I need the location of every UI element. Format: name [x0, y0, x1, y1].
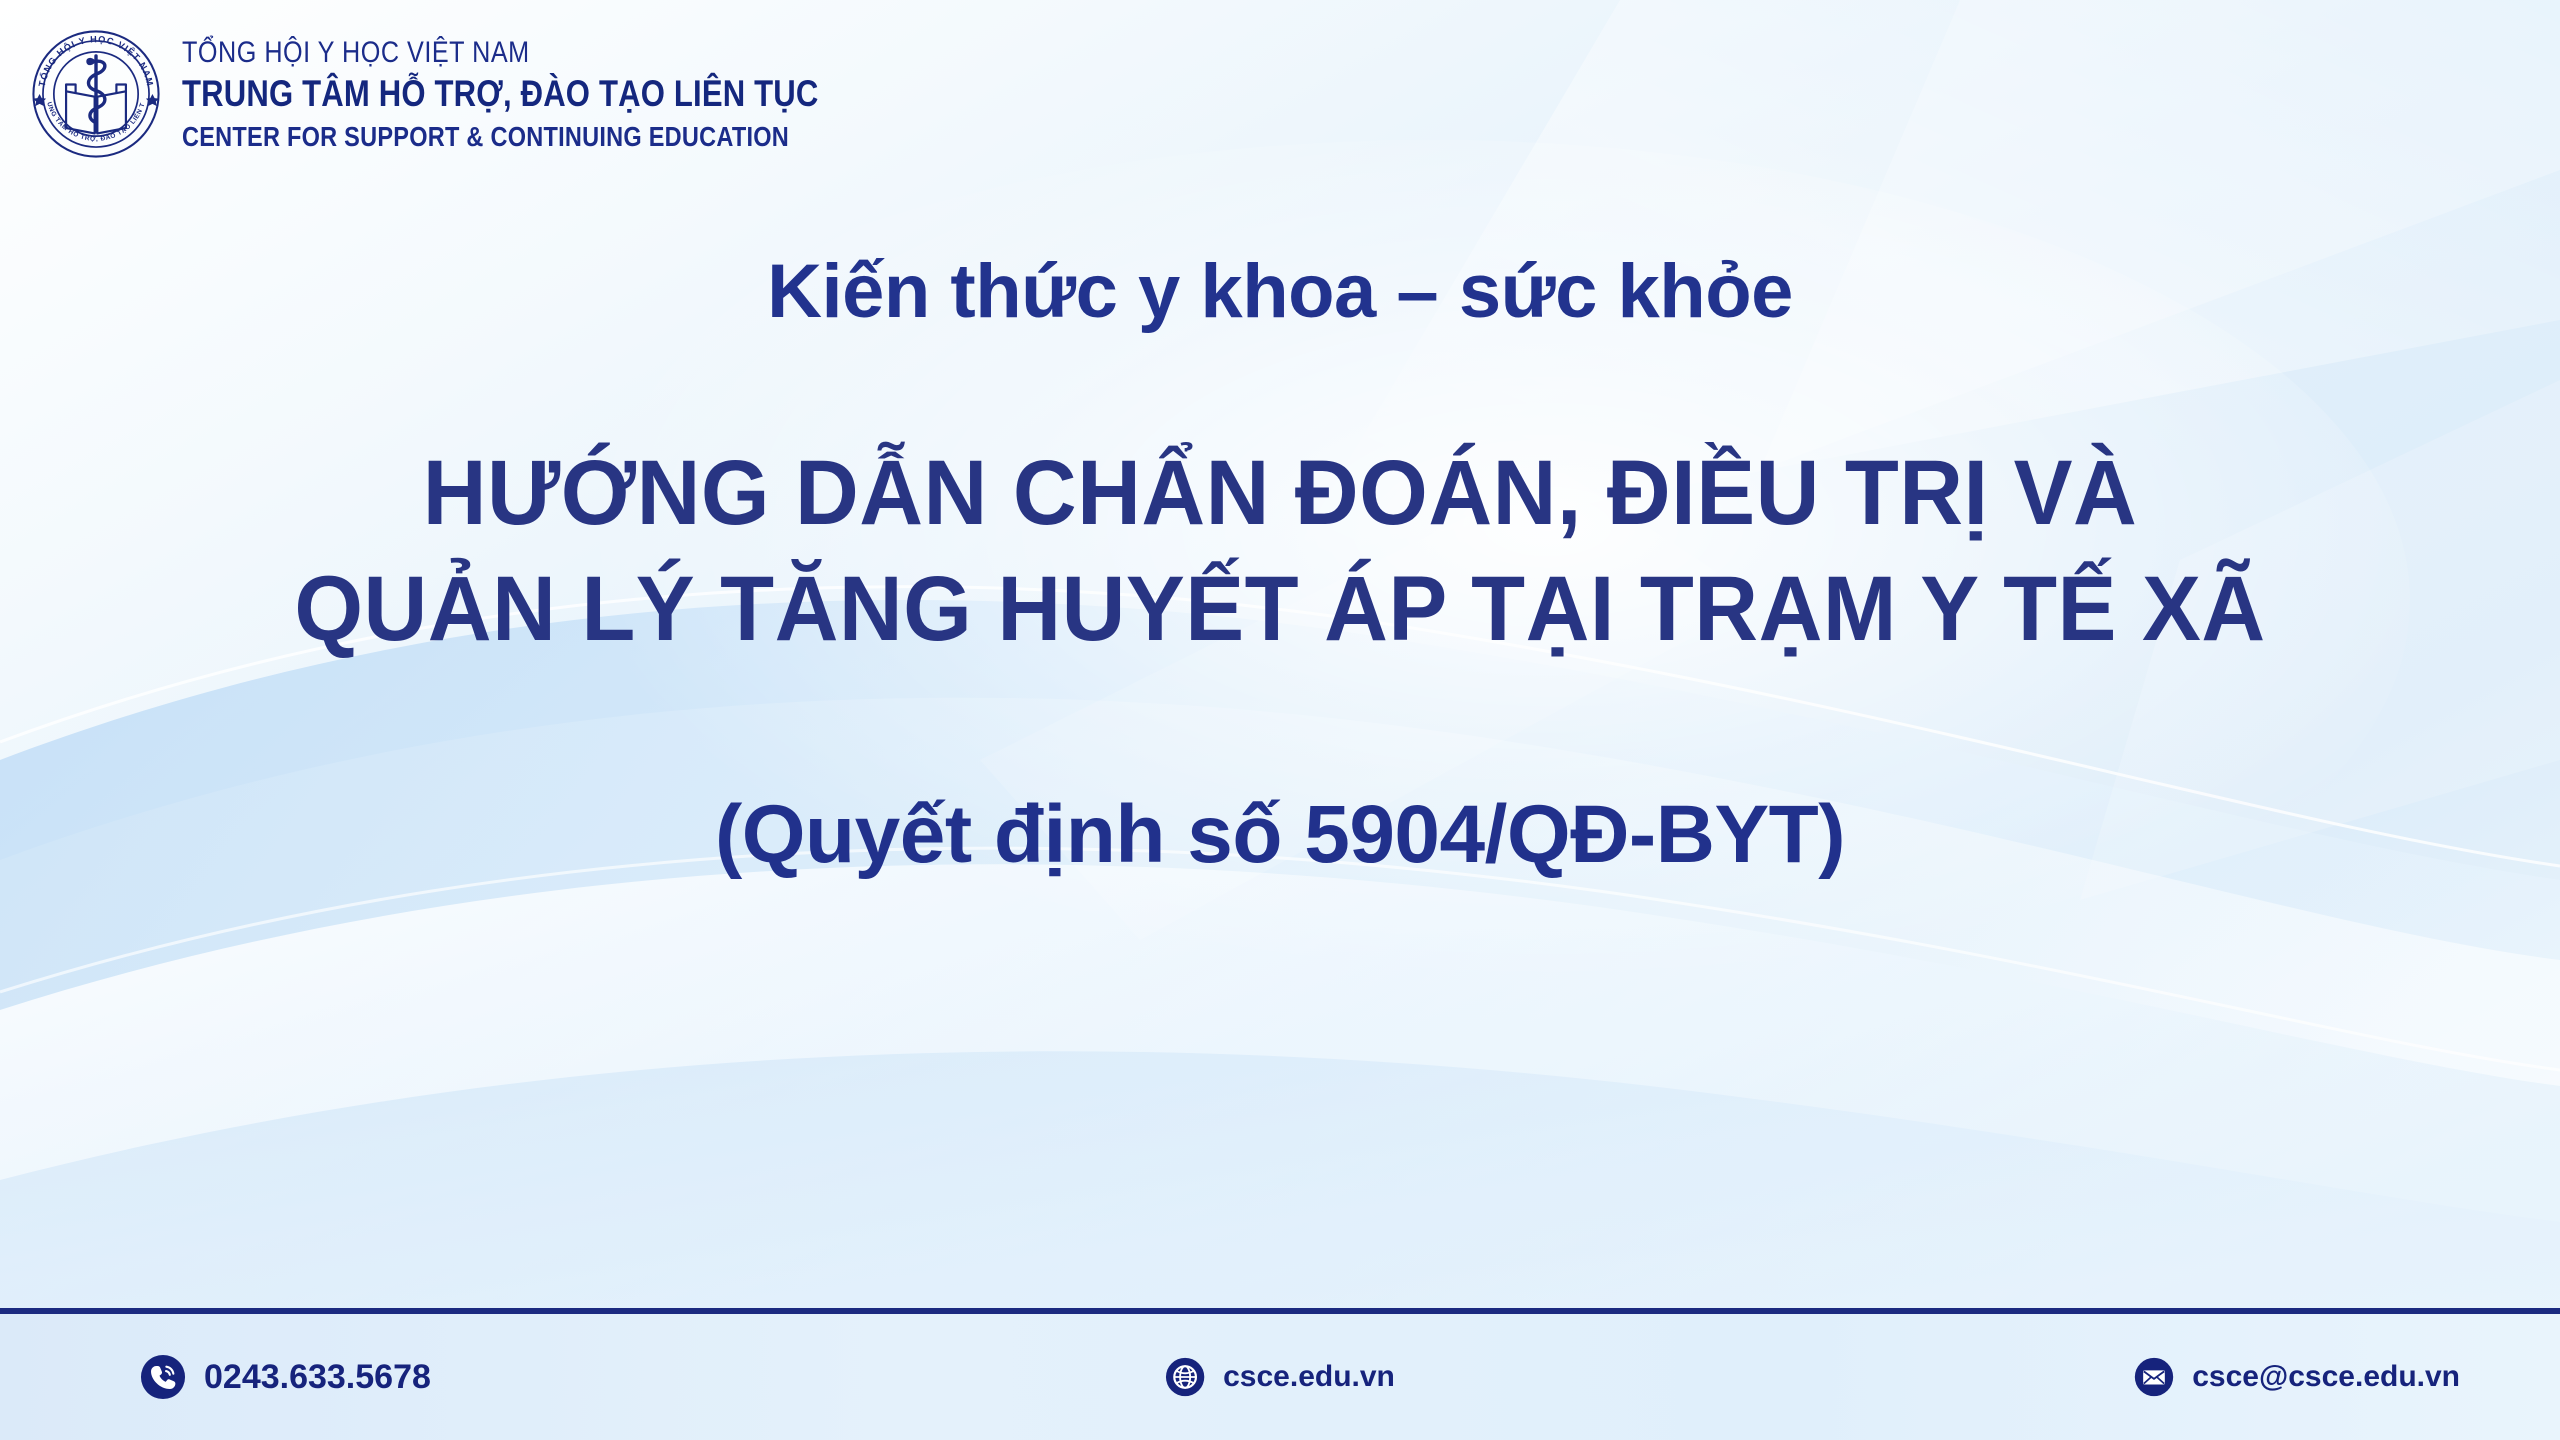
- footer-website[interactable]: csce.edu.vn: [1165, 1357, 1395, 1397]
- kicker-text: Kiến thức y khoa – sức khỏe: [0, 250, 2560, 334]
- page-title: HƯỚNG DẪN CHẨN ĐOÁN, ĐIỀU TRỊ VÀ QUẢN LÝ…: [0, 436, 2560, 668]
- brand-lockup: TỔNG HỘI Y HỌC VIỆT NAM TRUNG TÂM HỖ TRỢ…: [28, 26, 940, 162]
- center-name-en-line: CENTER FOR SUPPORT & CONTINUING EDUCATIO…: [182, 120, 819, 154]
- footer-email-text: csce@csce.edu.vn: [2192, 1360, 2460, 1394]
- footer-email[interactable]: csce@csce.edu.vn: [2134, 1357, 2460, 1397]
- footer-bar: 0243.633.5678 csce.edu.vn csce@csce.edu.…: [0, 1314, 2560, 1440]
- org-name-line: TỔNG HỘI Y HỌC VIỆT NAM: [182, 35, 819, 70]
- globe-icon: [1165, 1357, 1205, 1397]
- organization-seal-logo: TỔNG HỘI Y HỌC VIỆT NAM TRUNG TÂM HỖ TRỢ…: [28, 26, 164, 162]
- slide-canvas: TỔNG HỘI Y HỌC VIỆT NAM TRUNG TÂM HỖ TRỢ…: [0, 0, 2560, 1440]
- footer-phone-text: 0243.633.5678: [204, 1358, 431, 1397]
- title-line-1: HƯỚNG DẪN CHẨN ĐOÁN, ĐIỀU TRỊ VÀ: [90, 436, 2471, 552]
- title-line-2: QUẢN LÝ TĂNG HUYẾT ÁP TẠI TRẠM Y TẾ XÃ: [90, 552, 2471, 668]
- phone-icon: [140, 1354, 186, 1400]
- center-name-line: TRUNG TÂM HỖ TRỢ, ĐÀO TẠO LIÊN TỤC: [182, 73, 819, 116]
- decree-reference: (Quyết định số 5904/QĐ-BYT): [0, 789, 2560, 881]
- brand-text-block: TỔNG HỘI Y HỌC VIỆT NAM TRUNG TÂM HỖ TRỢ…: [182, 35, 940, 154]
- footer-website-text: csce.edu.vn: [1223, 1360, 1395, 1394]
- mail-icon: [2134, 1357, 2174, 1397]
- footer-phone[interactable]: 0243.633.5678: [140, 1354, 431, 1400]
- slide-content: Kiến thức y khoa – sức khỏe HƯỚNG DẪN CH…: [0, 250, 2560, 881]
